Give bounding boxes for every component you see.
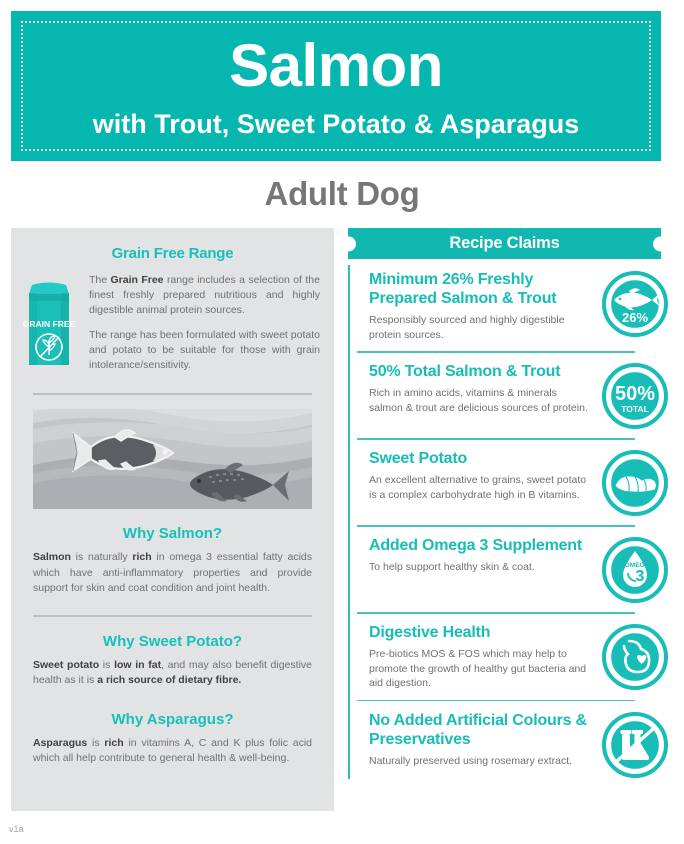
claim-item: Sweet Potato An excellent alternative to… [357,438,668,525]
stomach-heart-badge-icon [602,624,668,690]
grain-free-paragraph-1: The Grain Free range includes a selectio… [89,273,320,318]
claim-text: 50% Total Salmon & Trout Rich in amino a… [369,362,598,415]
claim-title: No Added Artificial Colours & Preservati… [369,711,592,749]
claim-item: Added Omega 3 Supplement To help support… [357,525,668,612]
recipe-claims-column: Recipe Claims Minimum 26% Freshly Prepar… [348,228,668,787]
banner-notch-right-icon [653,236,668,251]
version-tag: v1a [9,824,24,834]
recipe-claims-list: Minimum 26% Freshly Prepared Salmon & Tr… [348,259,668,787]
fish-26-percent-badge-icon: 26% [602,271,668,337]
divider-2 [33,615,312,617]
product-subtitle: with Trout, Sweet Potato & Asparagus [93,110,580,140]
why-salmon-text: Salmon is naturally rich in omega 3 esse… [33,550,312,597]
claim-item: Digestive Health Pre-biotics MOS & FOS w… [357,612,668,700]
salmon-underwater-illustration [33,409,312,509]
grain-free-heading: Grain Free Range [11,228,334,262]
grain-free-bag-icon: GRAIN FREE [21,273,77,383]
claim-description: Naturally preserved using rosemary extra… [369,754,592,769]
claims-vertical-rail [348,265,350,779]
recipe-claims-title: Recipe Claims [449,234,559,253]
grain-free-body: GRAIN FREE The Grain Free range includes… [11,273,334,383]
claim-description: To help support healthy skin & coat. [369,560,592,575]
fifty-percent-total-badge-icon: 50% TOTAL [602,363,668,429]
claim-text: No Added Artificial Colours & Preservati… [369,711,598,769]
claim-description: Rich in amino acids, vitamins & minerals… [369,386,592,415]
why-sweet-potato-text: Sweet potato is low in fat, and may also… [33,658,312,689]
why-sweet-potato-heading: Why Sweet Potato? [11,633,334,650]
claim-text: Digestive Health Pre-biotics MOS & FOS w… [369,623,598,691]
grain-free-paragraph-2: The range has been formulated with sweet… [89,328,320,373]
claim-description: Pre-biotics MOS & FOS which may help to … [369,647,592,691]
life-stage-title: Adult Dog [0,175,684,213]
claim-item: No Added Artificial Colours & Preservati… [357,700,668,787]
badge-value: 50% [615,383,655,405]
recipe-claims-banner: Recipe Claims [348,228,661,259]
header-banner: Salmon with Trout, Sweet Potato & Aspara… [11,11,661,161]
claim-title: Digestive Health [369,623,592,642]
claim-item: Minimum 26% Freshly Prepared Salmon & Tr… [357,259,668,351]
left-info-panel: Grain Free Range GRAIN FREE The Grain [11,228,334,811]
claim-item: 50% Total Salmon & Trout Rich in amino a… [357,351,668,438]
claim-description: Responsibly sourced and highly digestibl… [369,313,592,342]
claim-title: Added Omega 3 Supplement [369,536,592,555]
claim-description: An excellent alternative to grains, swee… [369,473,592,502]
product-info-sheet: Salmon with Trout, Sweet Potato & Aspara… [0,0,684,844]
omega-3-droplet-badge-icon: OMEGA 3 [602,537,668,603]
badge-value: 3 [636,568,645,585]
divider-1 [33,393,312,395]
sweet-potato-badge-icon [602,450,668,516]
product-title: Salmon [229,36,443,96]
no-artificial-flask-badge-icon [602,712,668,778]
why-salmon-heading: Why Salmon? [11,525,334,542]
claim-text: Sweet Potato An excellent alternative to… [369,449,598,502]
why-asparagus-heading: Why Asparagus? [11,711,334,728]
claim-title: Minimum 26% Freshly Prepared Salmon & Tr… [369,270,592,308]
svg-text:GRAIN FREE: GRAIN FREE [23,319,76,329]
badge-value: 26% [622,310,648,325]
banner-notch-left-icon [341,236,356,251]
claim-title: Sweet Potato [369,449,592,468]
claim-title: 50% Total Salmon & Trout [369,362,592,381]
claim-text: Added Omega 3 Supplement To help support… [369,536,598,575]
why-asparagus-text: Asparagus is rich in vitamins A, C and K… [33,736,312,767]
badge-subvalue: TOTAL [621,404,649,414]
grain-free-text: The Grain Free range includes a selectio… [89,273,320,383]
claim-text: Minimum 26% Freshly Prepared Salmon & Tr… [369,270,598,342]
